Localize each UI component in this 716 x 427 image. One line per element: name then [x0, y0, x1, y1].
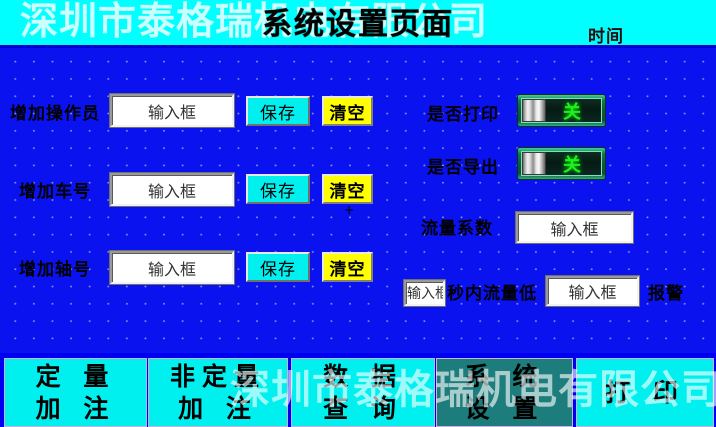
- toggle-export-enable[interactable]: 关: [518, 148, 605, 179]
- clear-button-operator[interactable]: 清空: [322, 96, 373, 126]
- bottom-nav-bar: 定 量 加 注 非定量 加 注 数 据 查 询 系 统 设 置 打 印 深圳市泰…: [0, 353, 716, 427]
- input-add-vehicle-number[interactable]: 输入框: [110, 173, 234, 206]
- nav-button-print[interactable]: 打 印: [576, 358, 714, 427]
- main-panel: 增加操作员 输入框 保存 清空 增加车号 输入框 保存 清空 + 增加轴号 输入…: [0, 48, 716, 353]
- clear-button-axle-number[interactable]: 清空: [322, 252, 373, 282]
- toggle-print-enable[interactable]: 关: [518, 95, 605, 126]
- toggle-export-state: 关: [563, 151, 582, 177]
- toggle-export-track: 关: [521, 151, 602, 176]
- toggle-export-knob[interactable]: [522, 152, 546, 175]
- label-print-enable: 是否打印: [427, 105, 499, 125]
- nav-button-data-query[interactable]: 数 据 查 询: [291, 358, 435, 427]
- label-add-operator: 增加操作员: [10, 104, 100, 124]
- input-alarm-seconds[interactable]: 输入框: [404, 280, 445, 306]
- label-alarm-suffix: 报警: [648, 284, 684, 304]
- toggle-print-track: 关: [521, 98, 602, 123]
- label-add-vehicle-number: 增加车号: [19, 182, 91, 202]
- label-flow-coefficient: 流量系数: [421, 219, 493, 239]
- label-add-axle-number: 增加轴号: [19, 260, 91, 280]
- nav-button-system-settings[interactable]: 系 统 设 置: [436, 358, 573, 427]
- nav-button-non-quantitative-filling[interactable]: 非定量 加 注: [148, 358, 288, 427]
- save-button-vehicle-number[interactable]: 保存: [246, 174, 310, 204]
- save-button-axle-number[interactable]: 保存: [246, 252, 310, 282]
- save-button-operator[interactable]: 保存: [246, 96, 310, 126]
- cursor-crosshair-icon: +: [344, 206, 353, 215]
- app-screen: 深圳市泰格瑞机电有限公司 系统设置页面 时间 增加操作员 输入框 保存 清空 增…: [0, 0, 716, 427]
- label-low-flow: 秒内流量低: [447, 284, 537, 304]
- input-alarm-threshold[interactable]: 输入框: [546, 276, 639, 306]
- toggle-print-knob[interactable]: [522, 99, 546, 122]
- clear-button-vehicle-number[interactable]: 清空: [322, 174, 373, 204]
- header-bar: 深圳市泰格瑞机电有限公司 系统设置页面 时间: [0, 0, 716, 48]
- time-label: 时间: [588, 22, 624, 47]
- input-add-operator[interactable]: 输入框: [110, 94, 234, 127]
- input-flow-coefficient[interactable]: 输入框: [516, 212, 633, 243]
- label-export-enable: 是否导出: [427, 158, 499, 178]
- input-add-axle-number[interactable]: 输入框: [110, 251, 234, 284]
- nav-button-quantitative-filling[interactable]: 定 量 加 注: [4, 358, 147, 427]
- toggle-print-state: 关: [563, 98, 582, 124]
